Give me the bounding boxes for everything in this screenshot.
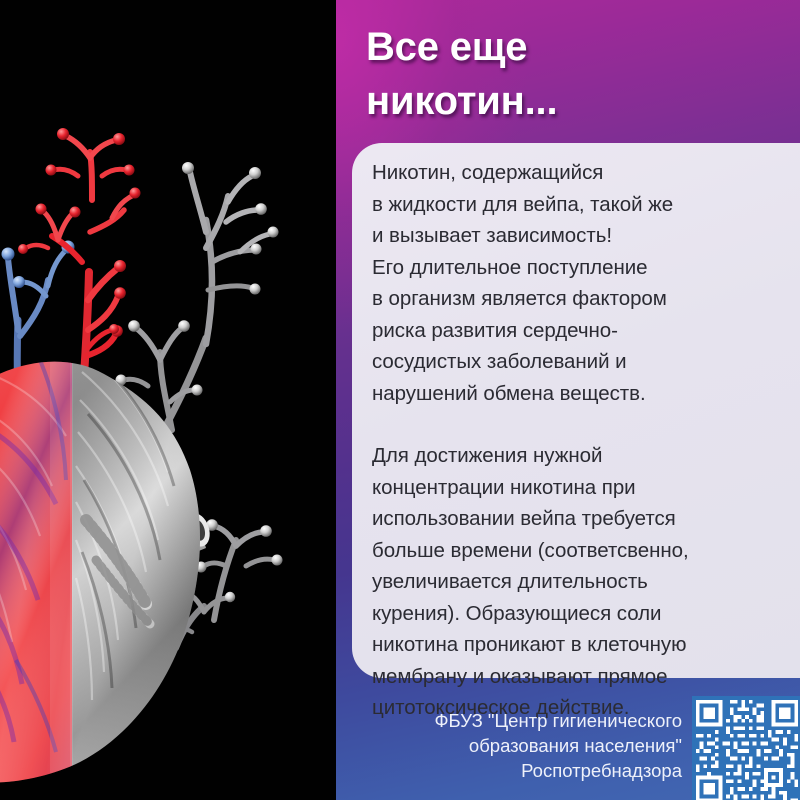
text-card: Никотин, содержащийся в жидкости для вей… <box>352 143 800 678</box>
page-title: Все еще никотин... <box>366 20 786 128</box>
poster-root: Все еще никотин... Никотин, содержащийся… <box>0 0 800 800</box>
paragraph-1: Никотин, содержащийся в жидкости для вей… <box>372 157 780 409</box>
card-body: Никотин, содержащийся в жидкости для вей… <box>372 157 780 724</box>
qr-code[interactable] <box>692 696 800 800</box>
heart-illustration <box>0 0 340 800</box>
organization-name: ФБУЗ "Центр гигиенического образования н… <box>352 708 682 783</box>
footer: ФБУЗ "Центр гигиенического образования н… <box>352 678 800 800</box>
